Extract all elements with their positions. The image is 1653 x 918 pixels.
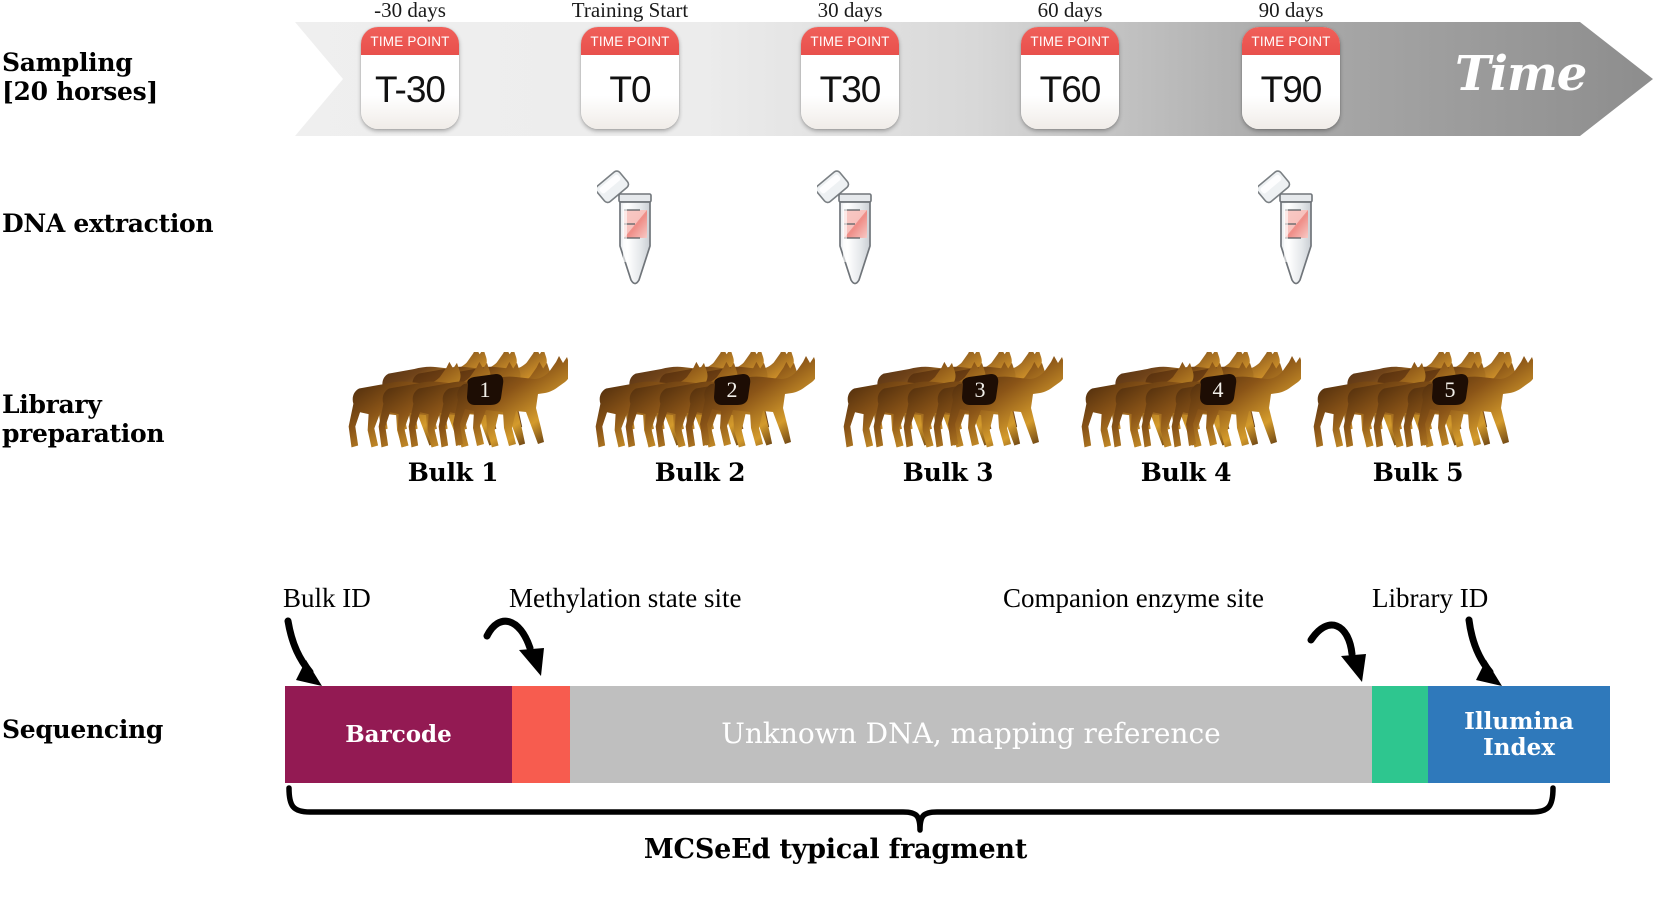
- fragment-segment-unknown-dna: Unknown DNA, mapping reference: [570, 686, 1372, 783]
- timeline-tick-1: -30 days: [374, 0, 446, 23]
- mcseed-fragment-bar: Barcode Unknown DNA, mapping reference I…: [285, 686, 1610, 783]
- fragment-segment-barcode: Barcode: [285, 686, 512, 783]
- row-label-sampling: Sampling[20 horses]: [2, 48, 158, 106]
- svg-text:4: 4: [1213, 377, 1224, 402]
- callout-library-id: Library ID: [1372, 583, 1488, 614]
- eppendorf-tube-t0-icon: [597, 168, 663, 290]
- timeline-arrow-band: [295, 22, 1653, 136]
- horse-bulk-5: 5Bulk 5: [1303, 352, 1533, 487]
- timepoint-code: T-30: [361, 55, 459, 129]
- timepoint-card-t60[interactable]: TIME POINTT60: [1021, 27, 1119, 129]
- horse-herd-icon: 3: [833, 352, 1063, 452]
- svg-text:2: 2: [727, 377, 738, 402]
- timepoint-card-t30[interactable]: TIME POINTT30: [801, 27, 899, 129]
- timepoint-badge: TIME POINT: [801, 27, 899, 55]
- fragment-caption-text: MCSeEd typical fragment: [626, 834, 1027, 865]
- timepoint-code: T90: [1242, 55, 1340, 129]
- timepoint-badge: TIME POINT: [581, 27, 679, 55]
- horse-herd-icon: 4: [1071, 352, 1301, 452]
- horse-herd-icon: 2: [585, 352, 815, 452]
- timeline-tick-3: 30 days: [818, 0, 883, 23]
- timeline-axis-word: Time: [1455, 46, 1586, 102]
- row-label-library-preparation: Librarypreparation: [2, 390, 164, 448]
- timepoint-badge: TIME POINT: [361, 27, 459, 55]
- horse-bulk-label: Bulk 5: [1303, 458, 1533, 487]
- horse-herd-icon: 5: [1303, 352, 1533, 452]
- horse-bulk-4: 4Bulk 4: [1071, 352, 1301, 487]
- horse-bulk-label: Bulk 3: [833, 458, 1063, 487]
- horse-bulk-label: Bulk 1: [338, 458, 568, 487]
- timeline-tick-2: Training Start: [572, 0, 688, 23]
- horse-bulk-3: 3Bulk 3: [833, 352, 1063, 487]
- timepoint-code: T30: [801, 55, 899, 129]
- timeline-tick-4: 60 days: [1038, 0, 1103, 23]
- eppendorf-tube-t30-icon: [817, 168, 883, 290]
- timepoint-code: T0: [581, 55, 679, 129]
- fragment-segment-methylation: [512, 686, 570, 783]
- horse-bulk-1: 1Bulk 1: [338, 352, 568, 487]
- fragment-segment-companion-enzyme: [1372, 686, 1428, 783]
- svg-text:1: 1: [480, 377, 491, 402]
- timeline-tick-5: 90 days: [1259, 0, 1324, 23]
- callout-methylation-state-site: Methylation state site: [509, 583, 741, 614]
- timepoint-card-t90[interactable]: TIME POINTT90: [1242, 27, 1340, 129]
- callout-bulk-id: Bulk ID: [283, 583, 371, 614]
- row-label-sequencing: Sequencing: [2, 715, 163, 744]
- horse-bulk-label: Bulk 2: [585, 458, 815, 487]
- timepoint-badge: TIME POINT: [1021, 27, 1119, 55]
- fragment-caption: MCSeEd typical fragment: [0, 834, 1653, 865]
- fragment-segment-illumina-index: IlluminaIndex: [1428, 686, 1610, 783]
- row-label-dna-extraction: DNA extraction: [2, 209, 213, 238]
- svg-text:5: 5: [1445, 377, 1456, 402]
- svg-text:3: 3: [975, 377, 986, 402]
- horse-herd-icon: 1: [338, 352, 568, 452]
- timepoint-badge: TIME POINT: [1242, 27, 1340, 55]
- timepoint-code: T60: [1021, 55, 1119, 129]
- horse-bulk-label: Bulk 4: [1071, 458, 1301, 487]
- horse-bulk-2: 2Bulk 2: [585, 352, 815, 487]
- callout-companion-enzyme-site: Companion enzyme site: [1003, 583, 1264, 614]
- timepoint-card-t-30[interactable]: TIME POINTT-30: [361, 27, 459, 129]
- eppendorf-tube-t90-icon: [1258, 168, 1324, 290]
- timepoint-card-t0[interactable]: TIME POINTT0: [581, 27, 679, 129]
